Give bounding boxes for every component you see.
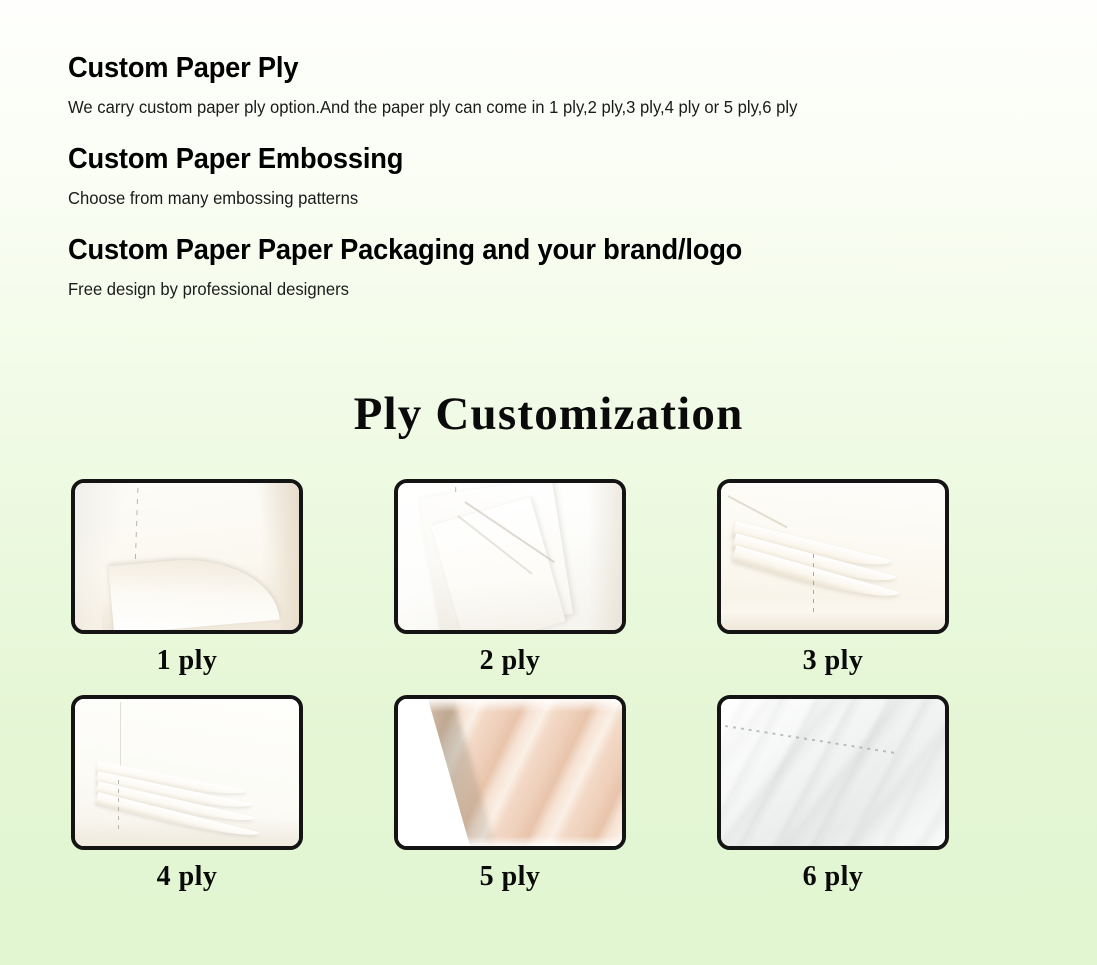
two-ply-paper-photo [394,479,626,634]
ply-caption-1: 1 ply [71,634,303,688]
three-ply-base-shadow [721,598,945,630]
feature-desc-embossing: Choose from many embossing patterns [68,185,980,211]
six-ply-paper-photo [717,695,949,850]
feature-list: Custom Paper Ply We carry custom paper p… [68,48,1028,302]
four-ply-paper-photo [71,695,303,850]
feature-heading-packaging: Custom Paper Paper Packaging and your br… [68,230,970,270]
feature-block-ply: Custom Paper Ply We carry custom paper p… [68,48,1028,120]
ply-customization-grid: 1 ply 2 ply [71,479,1026,904]
five-ply-top-highlight [398,699,622,712]
four-ply-vertical-crease [120,702,122,767]
ply-caption-2: 2 ply [394,634,626,688]
two-ply-edge-shade [588,483,622,630]
two-ply-photo-surface [398,483,622,630]
five-ply-photo-surface [398,699,622,846]
feature-desc-ply: We carry custom paper ply option.And the… [68,94,980,120]
four-ply-photo-surface [75,699,299,846]
ply-caption-6: 6 ply [717,850,949,904]
three-ply-perforation-line [813,554,814,613]
ply-caption-4: 4 ply [71,850,303,904]
six-ply-sheen [721,699,945,846]
ply-item-3: 3 ply [717,479,949,688]
ply-item-2: 2 ply [394,479,626,688]
six-ply-photo-surface [721,699,945,846]
ply-caption-5: 5 ply [394,850,626,904]
ply-item-5: 5 ply [394,695,626,904]
one-ply-photo-surface [75,483,299,630]
ply-item-4: 4 ply [71,695,303,904]
feature-block-packaging: Custom Paper Paper Packaging and your br… [68,230,1028,302]
promo-page: Custom Paper Ply We carry custom paper p… [0,0,1097,965]
feature-desc-packaging: Free design by professional designers [68,276,980,302]
section-title: Ply Customization [0,385,1097,443]
five-ply-bottom-highlight [398,836,622,846]
four-ply-perforation-line [118,780,119,830]
ply-item-6: 6 ply [717,695,949,904]
five-ply-paper-photo [394,695,626,850]
three-ply-paper-photo [717,479,949,634]
one-ply-paper-photo [71,479,303,634]
feature-heading-embossing: Custom Paper Embossing [68,139,970,179]
feature-heading-ply: Custom Paper Ply [68,48,970,88]
three-ply-photo-surface [721,483,945,630]
ply-item-1: 1 ply [71,479,303,688]
ply-caption-3: 3 ply [717,634,949,688]
feature-block-embossing: Custom Paper Embossing Choose from many … [68,139,1028,211]
